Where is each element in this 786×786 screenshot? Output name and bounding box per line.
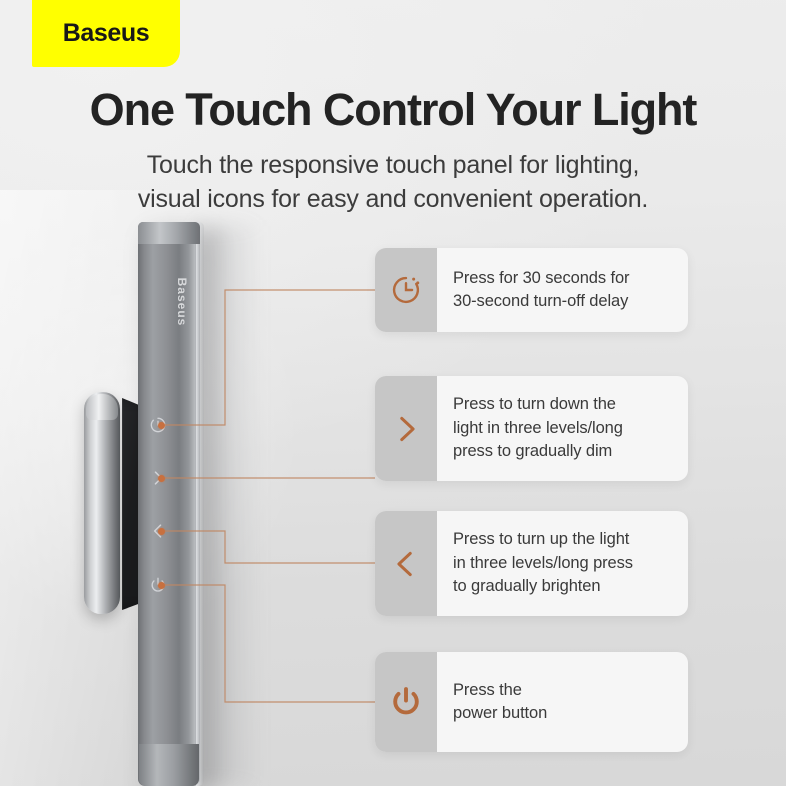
card-line: in three levels/long press (453, 552, 633, 576)
wall-bracket-cap (86, 394, 118, 420)
lamp-body-edge-highlight (196, 222, 204, 786)
card-line: Press to turn down the (453, 393, 623, 417)
feature-card-power-text: Press the power button (453, 679, 547, 726)
subtitle-line-2: visual icons for easy and convenient ope… (0, 182, 786, 216)
product-image: Baseus (60, 222, 360, 786)
card-line: power button (453, 702, 547, 726)
card-line: Press to turn up the light (453, 528, 633, 552)
page-title: One Touch Control Your Light (0, 84, 786, 136)
lamp-top-cap (138, 222, 200, 244)
feature-card-dim-down-text: Press to turn down the light in three le… (453, 393, 623, 464)
card-line: Press the (453, 679, 547, 703)
card-line: 30-second turn-off delay (453, 290, 629, 314)
wall-bracket (84, 392, 120, 614)
feature-card-brighten-text: Press to turn up the light in three leve… (453, 528, 633, 599)
brand-name: Baseus (63, 19, 150, 48)
card-line: press to gradually dim (453, 440, 623, 464)
subtitle-line-1: Touch the responsive touch panel for lig… (0, 148, 786, 182)
card-line: light in three levels/long (453, 417, 623, 441)
product-brand-label: Baseus (169, 247, 189, 357)
feature-card-power-body: Press the power button (437, 652, 688, 752)
connector-dot-brighten (158, 528, 165, 535)
chevron-left-icon (375, 511, 437, 616)
connector-dot-power (158, 582, 165, 589)
feature-card-dim-down-body: Press to turn down the light in three le… (437, 376, 688, 481)
lamp-bottom-cap (139, 744, 199, 786)
card-line: Press for 30 seconds for (453, 267, 629, 291)
product-drop-shadow (200, 226, 260, 786)
feature-card-brighten[interactable]: Press to turn up the light in three leve… (375, 511, 688, 616)
connector-dot-dim-down (158, 475, 165, 482)
feature-card-timer-body: Press for 30 seconds for 30-second turn-… (437, 248, 688, 332)
page-subtitle: Touch the responsive touch panel for lig… (0, 148, 786, 216)
power-icon (375, 652, 437, 752)
feature-card-timer[interactable]: Press for 30 seconds for 30-second turn-… (375, 248, 688, 332)
promo-page: Baseus One Touch Control Your Light Touc… (0, 0, 786, 786)
feature-card-timer-text: Press for 30 seconds for 30-second turn-… (453, 267, 629, 314)
brand-badge: Baseus (32, 0, 180, 67)
connector-dot-timer (158, 422, 165, 429)
feature-card-dim-down[interactable]: Press to turn down the light in three le… (375, 376, 688, 481)
feature-card-brighten-body: Press to turn up the light in three leve… (437, 511, 688, 616)
feature-card-power[interactable]: Press the power button (375, 652, 688, 752)
chevron-right-icon (375, 376, 437, 481)
timer-icon (375, 248, 437, 332)
card-line: to gradually brighten (453, 575, 633, 599)
